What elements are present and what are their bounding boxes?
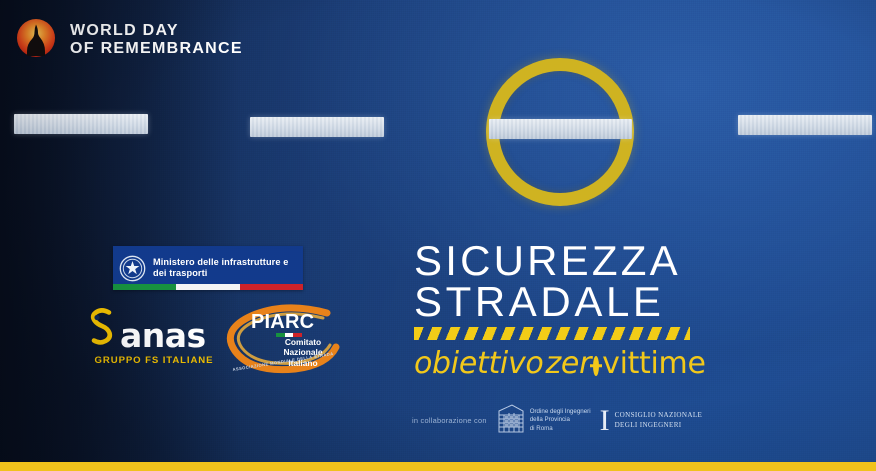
anas-wordmark: anas	[120, 319, 206, 352]
headline-block: SICUREZZA STRADALE obiettivo zer vittime	[414, 240, 704, 381]
tagline-block: obiettivo zer vittime	[414, 346, 704, 381]
tagline-word-vittime: vittime	[602, 346, 706, 381]
left-shadow-gradient	[0, 0, 240, 471]
italian-republic-emblem-icon	[119, 255, 146, 282]
piarc-sub-line-1: Comitato	[271, 337, 335, 347]
headline-line-2: STRADALE	[414, 281, 704, 322]
tricolor-white	[176, 284, 239, 290]
wdr-line-1: WORLD DAY	[70, 22, 243, 40]
road-dash-2	[250, 117, 384, 137]
bottom-accent-bar	[0, 462, 876, 471]
canvas-texture-overlay	[0, 0, 876, 471]
anas-s-symbol-icon	[88, 305, 118, 352]
vignette-overlay	[0, 0, 876, 471]
no-entry-zero-icon	[593, 356, 599, 376]
piarc-logo: PIARC Comitato Nazionale Italiano ASSOCI…	[223, 303, 341, 379]
oipr-line-1: Ordine degli Ingegneri	[530, 408, 591, 416]
ministero-label: Ministero delle infrastrutture e dei tra…	[153, 257, 288, 279]
oipr-line-2: della Provincia	[530, 416, 591, 424]
flame-in-circle-icon	[14, 18, 58, 62]
road-dash-4	[738, 115, 872, 135]
collaboration-label: in collaborazione con	[412, 416, 487, 425]
anas-subtitle: GRUPPO FS ITALIANE	[88, 355, 220, 366]
road-dash-1	[14, 114, 148, 134]
tricolor-green	[113, 284, 176, 290]
building-tower-icon	[496, 402, 526, 439]
collaboration-footer: in collaborazione con	[412, 402, 712, 439]
piarc-wordmark: PIARC	[251, 311, 314, 334]
ministero-line-1: Ministero delle infrastrutture e	[153, 257, 288, 268]
wdr-line-2: OF REMEMBRANCE	[70, 40, 243, 58]
consiglio-nazionale-ingegneri-logo: I CONSIGLIO NAZIONALE DEGLI INGEGNERI	[600, 409, 703, 433]
cni-line-2: DEGLI INGEGNERI	[615, 421, 703, 431]
ordine-ingegneri-roma-logo: Ordine degli Ingegneri della Provincia d…	[496, 402, 591, 439]
hazard-stripe-divider	[414, 327, 690, 340]
cni-text: CONSIGLIO NAZIONALE DEGLI INGEGNERI	[615, 411, 703, 430]
world-day-remembrance-logo: WORLD DAY OF REMEMBRANCE	[14, 18, 243, 62]
oipr-line-3: di Roma	[530, 425, 591, 433]
headline-line-1: SICUREZZA	[414, 240, 704, 281]
ministero-line-2: dei trasporti	[153, 268, 288, 279]
wdr-wordmark: WORLD DAY OF REMEMBRANCE	[70, 22, 243, 58]
letter-i-monogram-icon: I	[600, 409, 610, 433]
ordine-ingegneri-text: Ordine degli Ingegneri della Provincia d…	[530, 408, 591, 432]
tagline-word-obiettivo: obiettivo	[414, 346, 543, 381]
tricolor-red	[240, 284, 303, 290]
anas-logo: anas GRUPPO FS ITALIANE	[88, 310, 220, 366]
tagline-word-zer: zer	[545, 346, 591, 381]
italian-tricolor-bar	[113, 284, 303, 290]
poster-canvas: WORLD DAY OF REMEMBRANCE Ministero delle…	[0, 0, 876, 471]
road-dash-3	[489, 119, 632, 139]
cni-line-1: CONSIGLIO NAZIONALE	[615, 411, 703, 421]
piarc-tricolor	[276, 333, 302, 337]
